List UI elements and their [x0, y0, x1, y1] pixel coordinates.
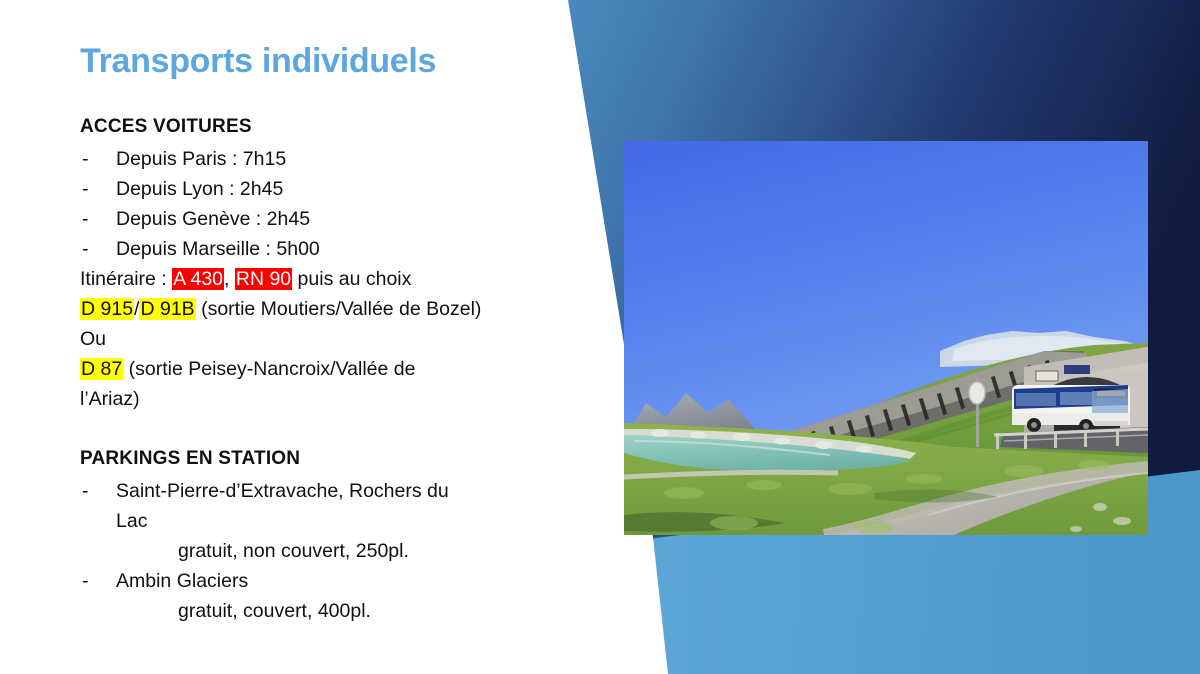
- dash-marker: -: [82, 204, 89, 234]
- parking-name-line-2: Lac: [80, 506, 580, 536]
- slide-photo: [624, 141, 1148, 535]
- road-badge-a430: A 430: [172, 268, 224, 290]
- cars-bullet-list: - Depuis Paris : 7h15 - Depuis Lyon : 2h…: [80, 144, 580, 264]
- itinerary-line-2: D 915/D 91B (sortie Moutiers/Vallée de B…: [80, 294, 580, 324]
- section-heading-cars: ACCES VOITURES: [80, 112, 580, 142]
- dash-marker: -: [82, 174, 89, 204]
- list-item: - Ambin Glaciers: [80, 566, 580, 596]
- dash-marker: -: [82, 234, 89, 264]
- itinerary-lead: Itinéraire :: [80, 268, 172, 290]
- list-item-label: Depuis Marseille : 5h00: [116, 238, 320, 260]
- section-spacer: [80, 414, 580, 444]
- parking-name-line-1: Ambin Glaciers: [116, 570, 248, 592]
- mountain-road-photo-illustration: [624, 141, 1148, 535]
- body-content: ACCES VOITURES - Depuis Paris : 7h15 - D…: [80, 112, 580, 626]
- list-item: - Depuis Marseille : 5h00: [80, 234, 580, 264]
- list-item-label: Depuis Genève : 2h45: [116, 208, 310, 230]
- section-heading-parkings: PARKINGS EN STATION: [80, 444, 580, 474]
- itinerary-line-1: Itinéraire : A 430, RN 90 puis au choix: [80, 264, 580, 294]
- parking-name-line-1: Saint-Pierre-d’Extravache, Rochers du: [116, 480, 449, 502]
- parkings-list: - Saint-Pierre-d’Extravache, Rochers du: [80, 476, 580, 506]
- road-badge-d915: D 915: [80, 298, 134, 320]
- list-item-label: Depuis Paris : 7h15: [116, 148, 286, 170]
- text-column: Transports individuels ACCES VOITURES - …: [0, 0, 580, 674]
- itinerary-tail: puis au choix: [292, 268, 411, 290]
- itinerary-line-2-tail: (sortie Moutiers/Vallée de Bozel): [196, 298, 482, 320]
- parking-detail: gratuit, couvert, 400pl.: [80, 596, 580, 626]
- itinerary-line-3-tail: (sortie Peisey-Nancroix/Vallée de: [123, 358, 415, 380]
- parking-detail: gratuit, non couvert, 250pl.: [80, 536, 580, 566]
- itinerary-or: Ou: [80, 324, 580, 354]
- slide: Transports individuels ACCES VOITURES - …: [0, 0, 1200, 674]
- road-badge-d91b: D 91B: [139, 298, 195, 320]
- list-item: - Depuis Paris : 7h15: [80, 144, 580, 174]
- itinerary-line-3: D 87 (sortie Peisey-Nancroix/Vallée de: [80, 354, 580, 384]
- dash-marker: -: [82, 476, 89, 506]
- list-item-label: Depuis Lyon : 2h45: [116, 178, 283, 200]
- page-title: Transports individuels: [80, 42, 436, 81]
- list-item: - Depuis Genève : 2h45: [80, 204, 580, 234]
- list-item: - Saint-Pierre-d’Extravache, Rochers du: [80, 476, 580, 506]
- itinerary-comma: ,: [224, 268, 229, 290]
- dash-marker: -: [82, 566, 89, 596]
- dash-marker: -: [82, 144, 89, 174]
- parkings-list-2: - Ambin Glaciers: [80, 566, 580, 596]
- list-item: - Depuis Lyon : 2h45: [80, 174, 580, 204]
- road-badge-d87: D 87: [80, 358, 123, 380]
- itinerary-line-4: l’Ariaz): [80, 384, 580, 414]
- road-badge-rn90: RN 90: [235, 268, 292, 290]
